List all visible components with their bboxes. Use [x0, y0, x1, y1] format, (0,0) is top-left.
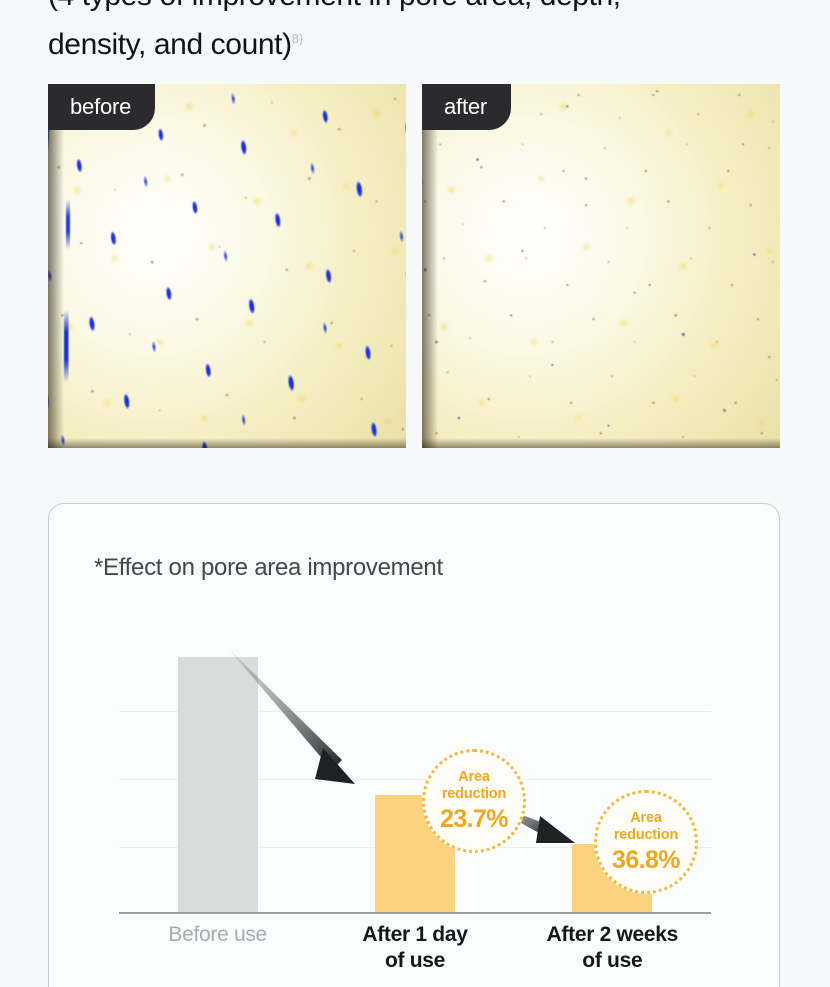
chart-x-axis-labels: Before use After 1 day of use After 2 we… — [119, 922, 711, 974]
callout-2-label-line1: Area — [630, 810, 661, 827]
footnote-marker: 8) — [292, 31, 304, 46]
before-image-texture — [48, 84, 406, 448]
bar-slot-before-use — [119, 649, 316, 912]
page-title-line1: (4 types of improvement in pore area, de… — [48, 0, 621, 12]
after-image: after — [422, 84, 780, 448]
before-badge: before — [48, 84, 155, 130]
chart-title: *Effect on pore area improvement — [94, 554, 443, 582]
after-badge-label: after — [444, 94, 487, 120]
before-image: before — [48, 84, 406, 448]
after-badge: after — [422, 84, 511, 130]
before-badge-label: before — [70, 94, 131, 120]
x-label-after-1-day: After 1 day of use — [316, 922, 513, 974]
x-label-after-1-day-line1: After 1 day — [316, 922, 513, 948]
x-label-after-1-day-line2: of use — [316, 948, 513, 974]
chart-baseline — [119, 912, 711, 914]
x-label-after-2-weeks: After 2 weeks of use — [514, 922, 711, 974]
bar-before-use[interactable] — [178, 657, 258, 912]
callout-2-label-line2: reduction — [614, 827, 678, 844]
callout-1-value: 23.7% — [440, 806, 508, 833]
callout-2-value: 36.8% — [612, 847, 680, 874]
x-label-before-use-line1: Before use — [119, 922, 316, 948]
callout-area-reduction-1: Area reduction 23.7% — [422, 749, 526, 853]
callout-area-reduction-2: Area reduction 36.8% — [594, 790, 698, 894]
before-after-comparison: before after — [48, 84, 780, 448]
page-title-line2: density, and count) — [48, 28, 292, 61]
x-label-after-2-weeks-line1: After 2 weeks — [514, 922, 711, 948]
x-label-before-use: Before use — [119, 922, 316, 974]
callout-1-label-line2: reduction — [442, 786, 506, 803]
pore-area-chart-card: *Effect on pore area improvement — [48, 503, 780, 987]
page-title: (4 types of improvement in pore area, de… — [48, 0, 748, 66]
after-image-texture — [422, 84, 780, 448]
callout-1-label-line1: Area — [458, 769, 489, 786]
x-label-after-2-weeks-line2: of use — [514, 948, 711, 974]
